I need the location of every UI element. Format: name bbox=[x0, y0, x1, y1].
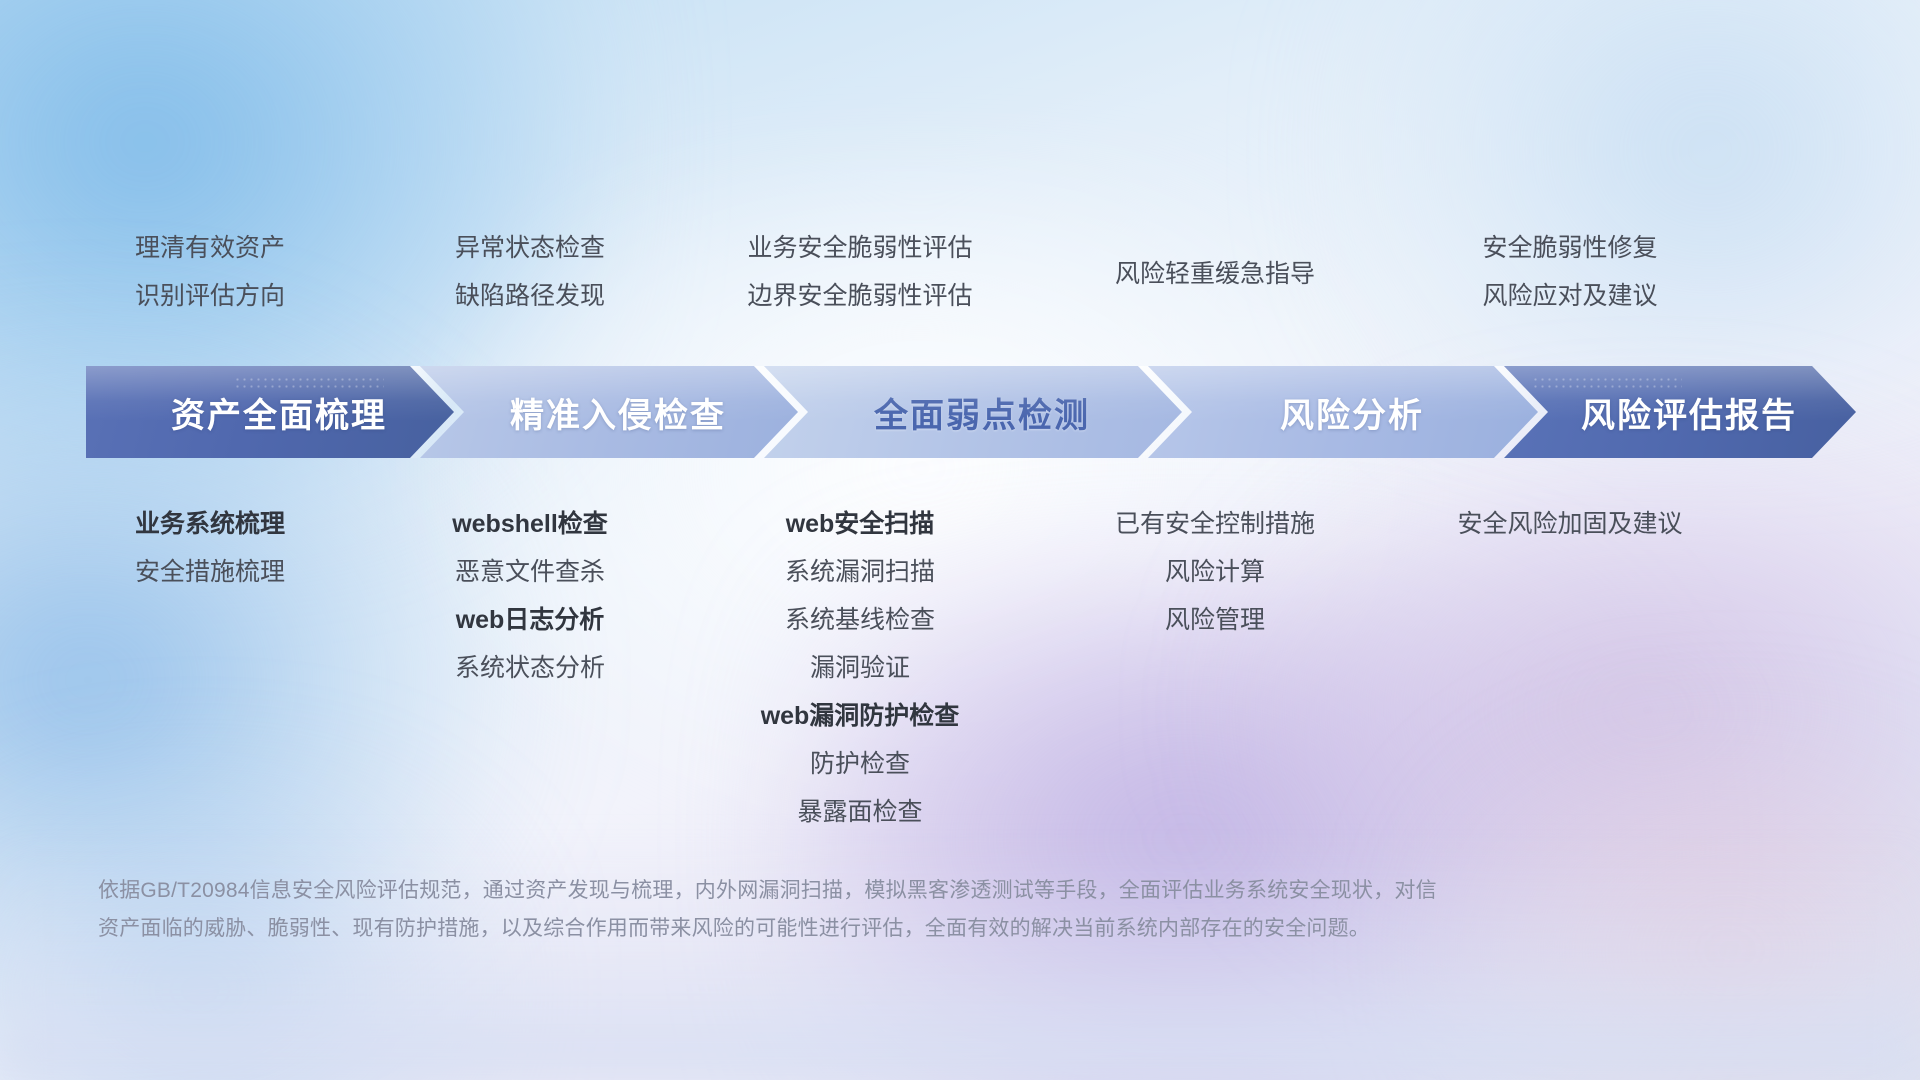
top-caption-item: 理清有效资产 bbox=[135, 224, 285, 272]
top-caption-item: 风险应对及建议 bbox=[1482, 272, 1657, 320]
top-caption-item: 业务安全脆弱性评估 bbox=[747, 224, 972, 272]
top-captions-asset-inventory: 理清有效资产 识别评估方向 bbox=[40, 224, 380, 324]
detail-item: 漏洞验证 bbox=[810, 644, 910, 692]
top-caption-item: 安全脆弱性修复 bbox=[1482, 224, 1657, 272]
detail-item: 安全措施梳理 bbox=[135, 548, 285, 596]
chevron-stage-asset-inventory[interactable]: 资产全面梳理 bbox=[86, 366, 454, 458]
bottom-details-risk-analysis: 已有安全控制措施 风险计算 风险管理 bbox=[1040, 500, 1390, 644]
top-captions-weakness-detection: 业务安全脆弱性评估 边界安全脆弱性评估 bbox=[680, 224, 1040, 324]
chevron-stage-risk-report[interactable]: 风险评估报告 bbox=[1504, 366, 1856, 458]
chevron-dot-texture bbox=[234, 376, 384, 388]
detail-item: 暴露面检查 bbox=[797, 788, 922, 836]
footer-line-1: 依据GB/T20984信息安全风险评估规范，通过资产发现与梳理，内外网漏洞扫描，… bbox=[98, 872, 1658, 910]
chevron-stage-weakness-detection[interactable]: 全面弱点检测 bbox=[764, 366, 1182, 458]
detail-item: web安全扫描 bbox=[786, 500, 935, 548]
bottom-details-row: 业务系统梳理 安全措施梳理 webshell检查 恶意文件查杀 web日志分析 … bbox=[0, 500, 1920, 840]
stage-chevron-banner: 资产全面梳理 精准入侵检查 全面弱点检测 风险分析 风险评估报告 bbox=[86, 366, 1856, 458]
bottom-details-weakness-detection: web安全扫描 系统漏洞扫描 系统基线检查 漏洞验证 web漏洞防护检查 防护检… bbox=[680, 500, 1040, 836]
top-caption-item: 识别评估方向 bbox=[135, 272, 285, 320]
detail-item: 风险管理 bbox=[1165, 596, 1265, 644]
chevron-label: 精准入侵检查 bbox=[420, 388, 798, 437]
detail-item: 已有安全控制措施 bbox=[1115, 500, 1315, 548]
detail-item: 防护检查 bbox=[810, 740, 910, 788]
chevron-dot-texture bbox=[1532, 376, 1682, 388]
chevron-stage-intrusion-inspection[interactable]: 精准入侵检查 bbox=[420, 366, 798, 458]
top-captions-row: 理清有效资产 识别评估方向 异常状态检查 缺陷路径发现 业务安全脆弱性评估 边界… bbox=[0, 224, 1920, 324]
detail-item: 风险计算 bbox=[1165, 548, 1265, 596]
bottom-details-risk-report: 安全风险加固及建议 bbox=[1390, 500, 1750, 548]
detail-item: 恶意文件查杀 bbox=[455, 548, 605, 596]
chevron-stage-risk-analysis[interactable]: 风险分析 bbox=[1148, 366, 1538, 458]
detail-item: web漏洞防护检查 bbox=[761, 692, 960, 740]
chevron-label: 全面弱点检测 bbox=[764, 388, 1182, 437]
top-captions-risk-report: 安全脆弱性修复 风险应对及建议 bbox=[1390, 224, 1750, 324]
bottom-details-intrusion-inspection: webshell检查 恶意文件查杀 web日志分析 系统状态分析 bbox=[380, 500, 680, 692]
detail-item: 系统状态分析 bbox=[455, 644, 605, 692]
bottom-details-asset-inventory: 业务系统梳理 安全措施梳理 bbox=[40, 500, 380, 596]
detail-item: 系统基线检查 bbox=[785, 596, 935, 644]
top-caption-item: 异常状态检查 bbox=[455, 224, 605, 272]
top-captions-risk-analysis: 风险轻重缓急指导 bbox=[1040, 224, 1390, 324]
process-diagram: 理清有效资产 识别评估方向 异常状态检查 缺陷路径发现 业务安全脆弱性评估 边界… bbox=[0, 0, 1920, 1080]
top-captions-intrusion-inspection: 异常状态检查 缺陷路径发现 bbox=[380, 224, 680, 324]
footer-line-2: 资产面临的威胁、脆弱性、现有防护措施，以及综合作用而带来风险的可能性进行评估，全… bbox=[98, 910, 1658, 948]
detail-item: 系统漏洞扫描 bbox=[785, 548, 935, 596]
top-caption-item: 风险轻重缓急指导 bbox=[1115, 250, 1315, 298]
chevron-label: 风险评估报告 bbox=[1504, 388, 1856, 437]
chevron-label: 资产全面梳理 bbox=[86, 388, 454, 437]
top-caption-item: 缺陷路径发现 bbox=[455, 272, 605, 320]
detail-item: web日志分析 bbox=[456, 596, 605, 644]
detail-item: webshell检查 bbox=[452, 500, 608, 548]
chevron-label: 风险分析 bbox=[1148, 388, 1538, 437]
footer-description: 依据GB/T20984信息安全风险评估规范，通过资产发现与梳理，内外网漏洞扫描，… bbox=[98, 872, 1658, 948]
detail-item: 业务系统梳理 bbox=[135, 500, 285, 548]
top-caption-item: 边界安全脆弱性评估 bbox=[747, 272, 972, 320]
detail-item: 安全风险加固及建议 bbox=[1457, 500, 1682, 548]
